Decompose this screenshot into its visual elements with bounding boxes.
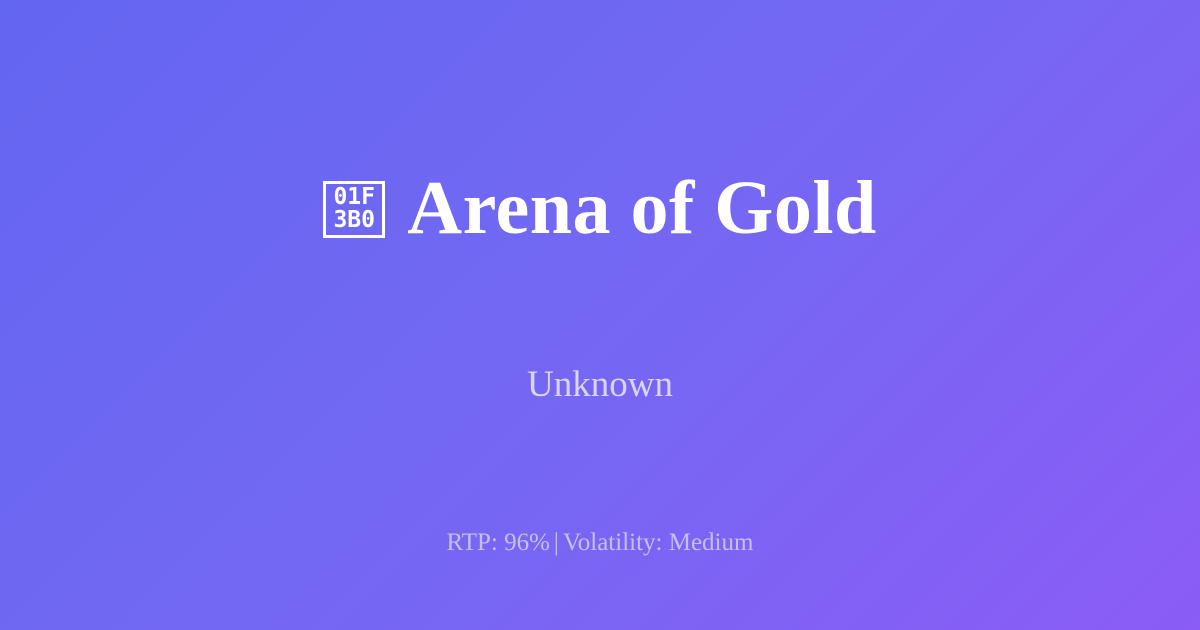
tofu-codepoint-bottom: 3B0 bbox=[333, 209, 375, 232]
stats-separator: | bbox=[550, 529, 563, 556]
rtp-stat: RTP: 96% bbox=[447, 529, 550, 556]
provider-label: Unknown bbox=[0, 362, 1200, 408]
og-share-card: 01F 3B0 Arena of Gold Unknown RTP: 96%|V… bbox=[0, 0, 1200, 630]
page-title: Arena of Gold bbox=[407, 167, 877, 249]
game-stats: RTP: 96%|Volatility: Medium bbox=[0, 527, 1200, 559]
title-line: 01F 3B0 Arena of Gold bbox=[0, 116, 1200, 300]
slot-machine-icon: 01F 3B0 bbox=[323, 181, 385, 238]
volatility-stat: Volatility: Medium bbox=[563, 529, 754, 556]
tofu-codepoint-top: 01F bbox=[333, 186, 375, 209]
